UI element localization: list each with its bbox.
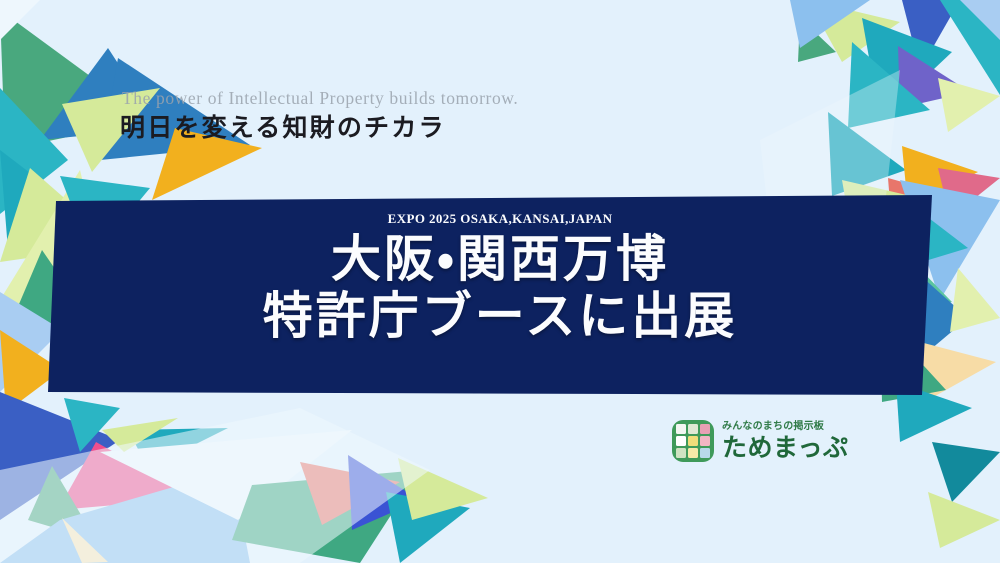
navy-banner: EXPO 2025 OSAKA,KANSAI,JAPAN 大阪・関西万博 特許庁… [0,195,1000,400]
tagline-english: The power of Intellectual Property build… [122,88,518,110]
logo-tile-4 [676,436,686,446]
tagline-japanese: 明日を変える知財のチカラ [120,112,518,145]
banner-headline-line-2: 特許庁ブースに出展 [263,288,738,345]
poster-canvas: The power of Intellectual Property build… [0,0,1000,563]
logo-tile-6 [700,436,710,446]
tamemap-app-icon [672,420,714,462]
logo-wordmark: ためまっぷ [722,435,849,460]
logo-tile-3 [700,424,710,434]
logo-tile-8 [688,448,698,458]
logo-tile-2 [688,424,698,434]
logo-tile-7 [676,448,686,458]
logo-tagline: みんなのまちの掲示板 [722,422,849,432]
logo-tile-5 [688,436,698,446]
logo-tile-9 [700,448,710,458]
logo-text-block: みんなのまちの掲示板 ためまっぷ [722,422,849,460]
tamemap-logo-lockup[interactable]: みんなのまちの掲示板 ためまっぷ [672,420,849,462]
banner-headline-line-1: 大阪・関西万博 [331,231,669,288]
logo-tile-1 [676,424,686,434]
banner-content: EXPO 2025 OSAKA,KANSAI,JAPAN 大阪・関西万博 特許庁… [0,195,1000,400]
banner-eyebrow: EXPO 2025 OSAKA,KANSAI,JAPAN [388,211,613,227]
tagline-block: The power of Intellectual Property build… [120,88,518,144]
